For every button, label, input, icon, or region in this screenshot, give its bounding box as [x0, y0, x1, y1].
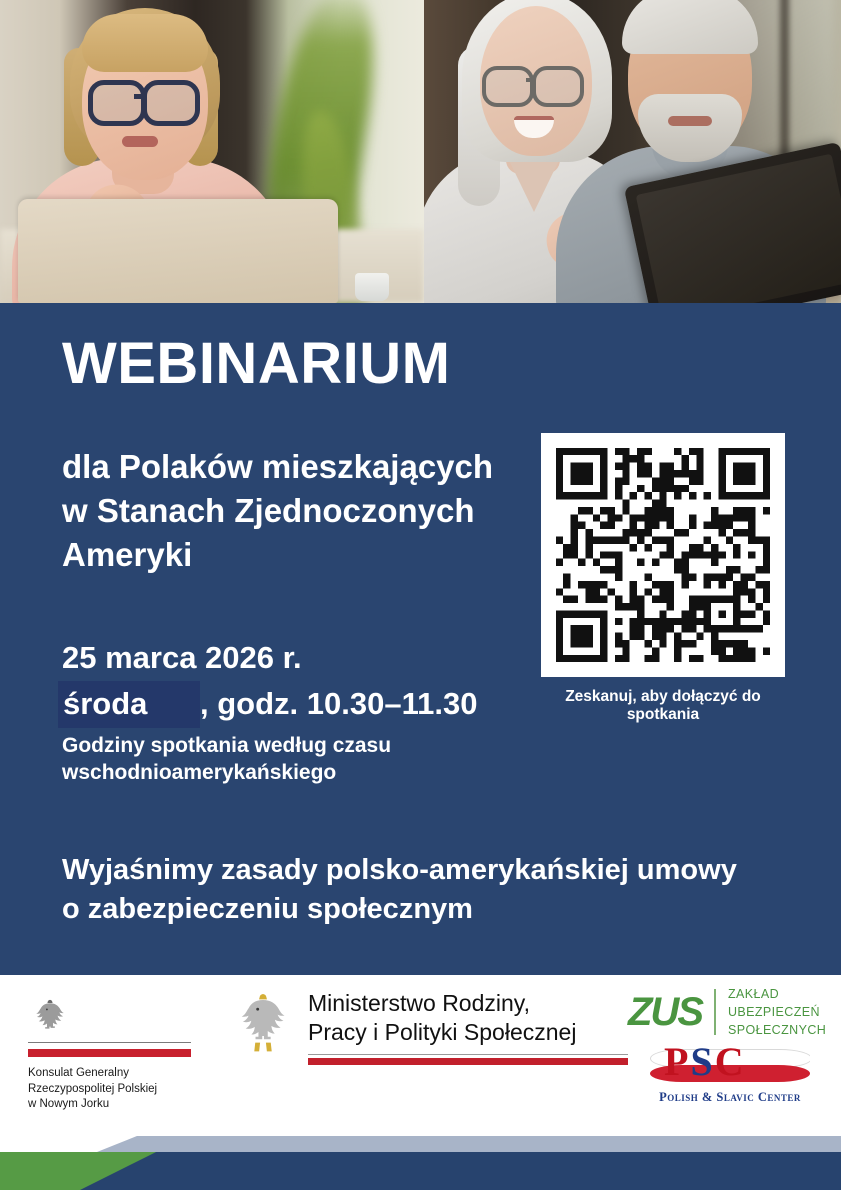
consulate-rule-thin	[28, 1042, 191, 1043]
psc-letter-s: S	[690, 1045, 714, 1084]
event-time: , godz. 10.30–11.30	[200, 684, 477, 724]
subheading: dla Polaków mieszkających w Stanach Zjed…	[62, 445, 522, 578]
consulate-name: Konsulat Generalny Rzeczypospolitej Pols…	[28, 1066, 218, 1113]
decorative-bottom-strip	[0, 1128, 841, 1190]
psc-name: Polish & Slavic Center	[650, 1090, 810, 1105]
eyeglasses-left-lens	[88, 80, 146, 126]
psc-letter-c: C	[715, 1045, 746, 1084]
event-tagline: Wyjaśnimy zasady polsko-amerykańskiej um…	[62, 851, 742, 930]
event-day-and-time: środa, godz. 10.30–11.30	[58, 681, 477, 728]
zus-wordmark: ZUS	[628, 992, 702, 1032]
ministry-line-1: Ministerstwo Rodziny,	[308, 989, 628, 1018]
logo-zus: ZUS ZAKŁAD UBEZPIECZEŃ SPOŁECZNYCH	[628, 985, 826, 1039]
woman-mouth	[122, 136, 158, 147]
photo-band	[0, 0, 841, 303]
qr-block: Zeskanuj, aby dołączyć do spotkania	[541, 433, 785, 724]
older-man-mouth	[668, 116, 712, 126]
older-woman-glasses-bridge	[526, 78, 536, 82]
polish-eagle-icon	[28, 995, 72, 1039]
consulate-line-1: Konsulat Generalny	[28, 1066, 218, 1082]
zus-divider	[714, 989, 716, 1035]
ministry-block: Ministerstwo Rodziny, Pracy i Polityki S…	[308, 989, 628, 1065]
woman-at-laptop-photo	[0, 0, 424, 303]
ministry-line-2: Pracy i Polityki Społecznej	[308, 1018, 628, 1047]
zus-line-3: SPOŁECZNYCH	[728, 1021, 826, 1039]
older-man-hair	[622, 0, 758, 54]
zus-fullname: ZAKŁAD UBEZPIECZEŃ SPOŁECZNYCH	[728, 985, 826, 1039]
logo-psc: PSC Polish & Slavic Center	[650, 1045, 810, 1105]
older-couple-with-tablet-photo	[424, 0, 841, 303]
qr-code-icon[interactable]	[541, 433, 785, 677]
polish-eagle-icon	[232, 989, 294, 1071]
eyeglasses-right-lens	[142, 80, 200, 126]
ministry-rule-thin	[308, 1054, 628, 1055]
consulate-rule-red	[28, 1049, 191, 1057]
poster-root: WEBINARIUM dla Polaków mieszkających w S…	[0, 0, 841, 1190]
page-title: WEBINARIUM	[62, 335, 450, 393]
consulate-line-2: Rzeczypospolitej Polskiej	[28, 1082, 218, 1098]
poster-body: WEBINARIUM dla Polaków mieszkających w S…	[0, 303, 841, 975]
psc-emblem: PSC	[650, 1045, 810, 1089]
logo-ministry: Ministerstwo Rodziny, Pracy i Polityki S…	[232, 989, 602, 1071]
event-date: 25 marca 2026 r.	[62, 638, 302, 678]
consulate-line-3: w Nowym Jorku	[28, 1097, 218, 1113]
cup	[355, 273, 389, 301]
strip-light-band	[92, 1136, 841, 1154]
strip-navy-band	[80, 1152, 841, 1190]
laptop	[18, 199, 338, 303]
zus-line-2: UBEZPIECZEŃ	[728, 1003, 826, 1021]
weekday-chip: środa	[58, 681, 200, 728]
psc-letters: PSC	[664, 1045, 794, 1082]
eyeglasses-bridge	[134, 94, 146, 99]
qr-caption: Zeskanuj, aby dołączyć do spotkania	[541, 688, 785, 724]
woman-bangs	[82, 14, 208, 72]
logo-consulate: Konsulat Generalny Rzeczypospolitej Pols…	[28, 995, 218, 1113]
ministry-rule-red	[308, 1058, 628, 1065]
older-woman-glasses-left	[482, 66, 534, 107]
zus-line-1: ZAKŁAD	[728, 985, 826, 1003]
psc-letter-p: P	[664, 1045, 690, 1084]
timezone-note: Godziny spotkania według czasu wschodnio…	[62, 733, 492, 787]
